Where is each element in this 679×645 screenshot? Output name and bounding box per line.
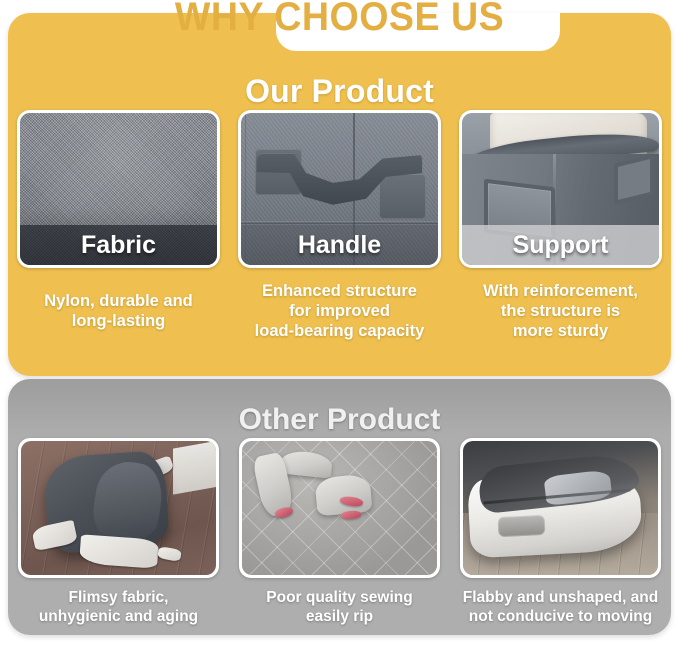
comparison-infographic: Our Product WHY CHOOSE US Other Product …	[0, 0, 679, 645]
caption-support: With reinforcement, the structure is mor…	[458, 281, 663, 341]
baseboard-wall	[173, 441, 216, 494]
card-handle[interactable]: Handle Enhanced structure for improved l…	[229, 110, 450, 341]
card-support[interactable]: Support With reinforcement, the structur…	[450, 110, 671, 341]
caption-flabby: Flabby and unshaped, and not conducive t…	[454, 588, 668, 626]
photo-label-fabric: Fabric	[20, 225, 217, 265]
other-product-card-row: Flimsy fabric, unhygienic and aging Poor…	[8, 438, 671, 626]
photo-flimsy	[21, 441, 216, 575]
photo-flabby	[463, 441, 658, 575]
ripped-handle-illustration-icon	[242, 441, 437, 575]
photo-frame-handle[interactable]: Handle	[238, 110, 441, 268]
photo-frame-support[interactable]: Support	[459, 110, 662, 268]
card-flimsy-fabric[interactable]: Flimsy fabric, unhygienic and aging	[8, 438, 229, 626]
photo-poor-sewing	[242, 441, 437, 575]
handle-tab-right	[379, 174, 426, 220]
other-product-heading: Other Product	[8, 403, 671, 437]
card-poor-sewing[interactable]: Poor quality sewing easily rip	[229, 438, 450, 626]
flabby-bag-illustration-icon	[463, 441, 658, 575]
rip-tear	[341, 510, 361, 519]
our-product-card-row: Fabric Nylon, durable and long-lasting	[8, 110, 671, 341]
caption-handle: Enhanced structure for improved load-bea…	[237, 281, 442, 341]
caption-fabric: Nylon, durable and long-lasting	[16, 291, 221, 331]
card-fabric[interactable]: Fabric Nylon, durable and long-lasting	[8, 110, 229, 341]
bag-handle-tab	[498, 515, 546, 538]
torn-strap	[280, 449, 333, 478]
photo-handle: Handle	[241, 113, 438, 265]
photo-frame-flabby[interactable]	[460, 438, 661, 578]
torn-strap	[315, 474, 373, 516]
photo-frame-fabric[interactable]: Fabric	[17, 110, 220, 268]
card-flabby[interactable]: Flabby and unshaped, and not conducive t…	[450, 438, 671, 626]
photo-label-handle: Handle	[241, 225, 438, 265]
our-product-heading: Our Product	[8, 73, 671, 110]
caption-poor-sewing: Poor quality sewing easily rip	[233, 588, 447, 626]
torn-bag-illustration-icon	[21, 441, 216, 575]
photo-frame-flimsy[interactable]	[18, 438, 219, 578]
photo-fabric: Fabric	[20, 113, 217, 265]
seam-horizontal	[241, 221, 438, 224]
photo-label-support: Support	[462, 225, 659, 265]
photo-support: Support	[462, 113, 659, 265]
caption-flimsy-fabric: Flimsy fabric, unhygienic and aging	[12, 588, 226, 626]
photo-frame-poor-sewing[interactable]	[239, 438, 440, 578]
page-title: WHY CHOOSE US	[20, 0, 658, 40]
